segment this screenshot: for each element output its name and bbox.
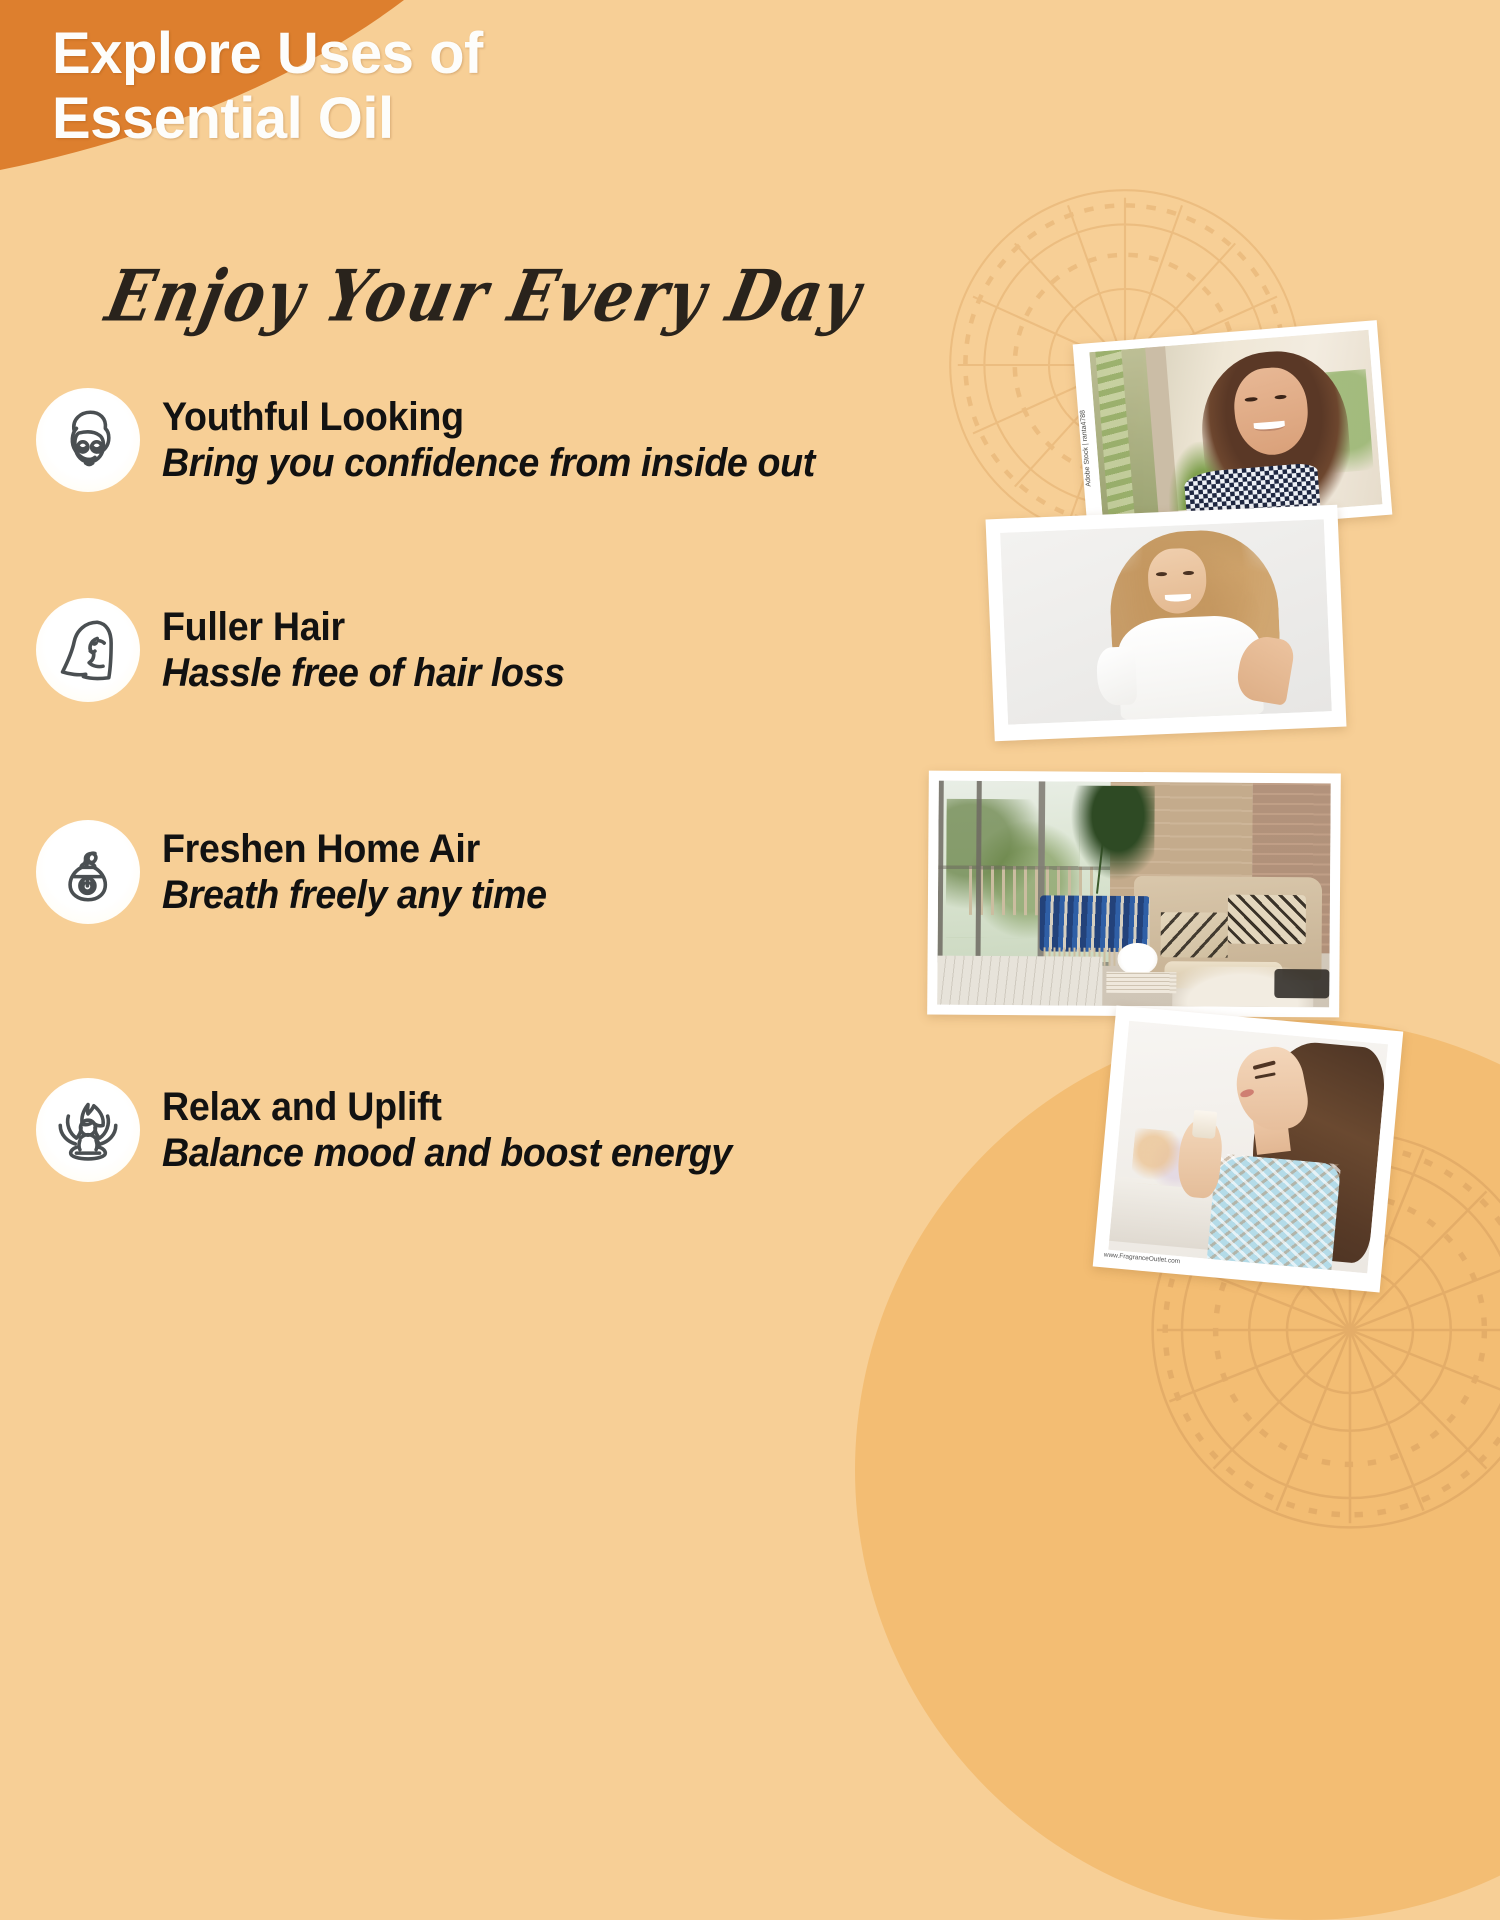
- boho-living-room-photo: [927, 771, 1341, 1018]
- photo-collage: Adobe Stock | ranta4788: [0, 0, 1500, 1500]
- smiling-woman-photo: Adobe Stock | ranta4788: [1073, 320, 1393, 539]
- perfume-woman-photo: www.FragranceOutlet.com: [1093, 1005, 1404, 1292]
- blonde-wavy-hair-photo: [986, 505, 1347, 742]
- photo-watermark: Adobe Stock | ranta4788: [1079, 410, 1092, 487]
